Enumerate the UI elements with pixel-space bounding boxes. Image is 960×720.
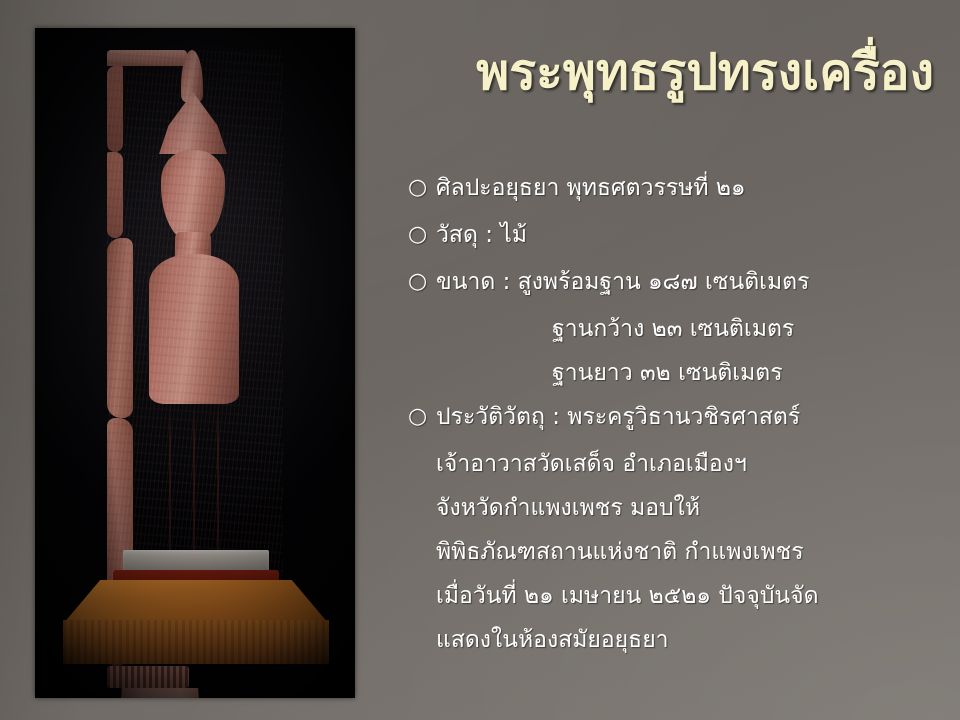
bullet-circle-icon: ○ (408, 213, 436, 257)
bullet-label: ขนาด : สูงพร้อมฐาน ๑๘๗ เซนติเมตร (436, 260, 946, 304)
bullet-sub-line: เมื่อวันที่ ๒๑ เมษายน ๒๕๒๑ ปัจจุบันจัด (408, 574, 946, 618)
statue-arm-left (107, 238, 133, 418)
list-item: ○ วัสดุ : ไม้ (408, 213, 946, 257)
statue-crown (159, 92, 227, 154)
statue-belt-sash (107, 666, 189, 688)
statue-face (161, 150, 225, 242)
statue-ear-right (107, 152, 123, 238)
statue-torso (149, 254, 239, 404)
bullet-list: ○ ศิลปะอยุธยา พุทธศตวรรษที่ ๒๑ ○ วัสดุ :… (408, 166, 946, 662)
bullet-sub-line: ฐานยาว ๓๒ เซนติเมตร (408, 351, 946, 395)
bullet-circle-icon: ○ (408, 260, 436, 304)
list-item: ○ ศิลปะอยุธยา พุทธศตวรรษที่ ๒๑ (408, 166, 946, 210)
bullet-label: วัสดุ : ไม้ (436, 213, 946, 257)
slide-title: พระพุทธรูปทรงเครื่อง (386, 46, 934, 99)
bullet-sub-line: แสดงในห้องสมัยอยุธยา (408, 618, 946, 662)
photo-backdrop (35, 28, 355, 698)
pedestal-front-face (63, 620, 329, 664)
pedestal-top-surface (63, 580, 329, 624)
bullet-sub-line: จังหวัดกำแพงเพชร มอบให้ (408, 486, 946, 530)
bullet-sub-line: เจ้าอาวาสวัดเสด็จ อำเภอเมืองฯ (408, 442, 946, 486)
bullet-label: ศิลปะอยุธยา พุทธศตวรรษที่ ๒๑ (436, 166, 946, 210)
bullet-circle-icon: ○ (408, 166, 436, 210)
statue-crown-band (107, 50, 187, 66)
slide-content-column: พระพุทธรูปทรงเครื่อง ○ ศิลปะอยุธยา พุทธศ… (386, 0, 946, 720)
bullet-sub-line: ฐานกว้าง ๒๓ เซนติเมตร (408, 307, 946, 351)
list-item: ○ ประวัติวัตถุ : พระครูวิธานวชิรศาสตร์ เ… (408, 395, 946, 662)
bullet-sub-line: พิพิธภัณฑสถานแห่งชาติ กำแพงเพชร (408, 530, 946, 574)
bullet-circle-icon: ○ (408, 395, 436, 439)
bullet-label: ประวัติวัตถุ : พระครูวิธานวชิรศาสตร์ (436, 395, 946, 439)
presentation-slide: พระพุทธรูปทรงเครื่อง ○ ศิลปะอยุธยา พุทธศ… (0, 0, 960, 720)
statue-ear-left (107, 66, 123, 152)
list-item: ○ ขนาด : สูงพร้อมฐาน ๑๘๗ เซนติเมตร ฐานกว… (408, 260, 946, 395)
artifact-photo (35, 28, 355, 698)
statue-robe (107, 688, 213, 698)
